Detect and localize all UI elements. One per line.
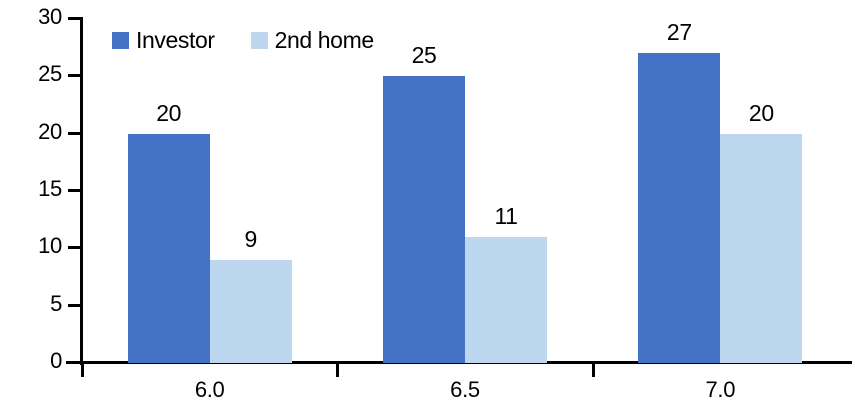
y-axis-tick-label: 15 bbox=[0, 178, 62, 200]
legend-label: 2nd home bbox=[275, 28, 374, 52]
bar-value-label: 9 bbox=[210, 227, 292, 251]
x-axis-tick bbox=[592, 364, 595, 377]
x-axis-tick bbox=[336, 364, 339, 377]
bar-chart: 051015202530 6.06.57.0 20925112720 Inves… bbox=[0, 0, 852, 410]
x-axis-tick bbox=[81, 364, 84, 377]
y-axis-tick-label: 25 bbox=[0, 63, 62, 85]
bar bbox=[720, 134, 802, 363]
y-axis-tick-label: 10 bbox=[0, 235, 62, 257]
legend-item[interactable]: 2nd home bbox=[251, 28, 374, 52]
bar-value-label: 20 bbox=[720, 101, 802, 125]
y-axis-tick bbox=[68, 304, 81, 307]
legend-swatch-icon bbox=[251, 32, 268, 49]
legend-item[interactable]: Investor bbox=[112, 28, 215, 52]
bar-value-label: 20 bbox=[128, 101, 210, 125]
bar-value-label: 11 bbox=[465, 204, 547, 228]
y-axis-tick bbox=[68, 246, 81, 249]
bar bbox=[465, 237, 547, 363]
bar-value-label: 27 bbox=[638, 20, 720, 44]
chart-legend: Investor2nd home bbox=[112, 28, 374, 52]
y-axis-tick-label: 20 bbox=[0, 121, 62, 143]
legend-swatch-icon bbox=[112, 32, 129, 49]
x-axis-tick-label: 6.5 bbox=[405, 378, 525, 402]
bar bbox=[128, 134, 210, 363]
y-axis-tick bbox=[68, 17, 81, 20]
legend-label: Investor bbox=[136, 28, 215, 52]
bar bbox=[210, 260, 292, 363]
bar bbox=[638, 53, 720, 363]
y-axis-tick-label: 5 bbox=[0, 293, 62, 315]
bar-value-label: 25 bbox=[383, 43, 465, 67]
y-axis-tick bbox=[68, 132, 81, 135]
y-axis-tick-label: 0 bbox=[0, 350, 62, 372]
y-axis-tick bbox=[68, 74, 81, 77]
x-axis-tick-label: 7.0 bbox=[660, 378, 780, 402]
x-axis-tick-label: 6.0 bbox=[150, 378, 270, 402]
bar bbox=[383, 76, 465, 363]
y-axis-tick bbox=[68, 361, 81, 364]
y-axis-tick-label: 30 bbox=[0, 6, 62, 28]
y-axis-tick bbox=[68, 189, 81, 192]
